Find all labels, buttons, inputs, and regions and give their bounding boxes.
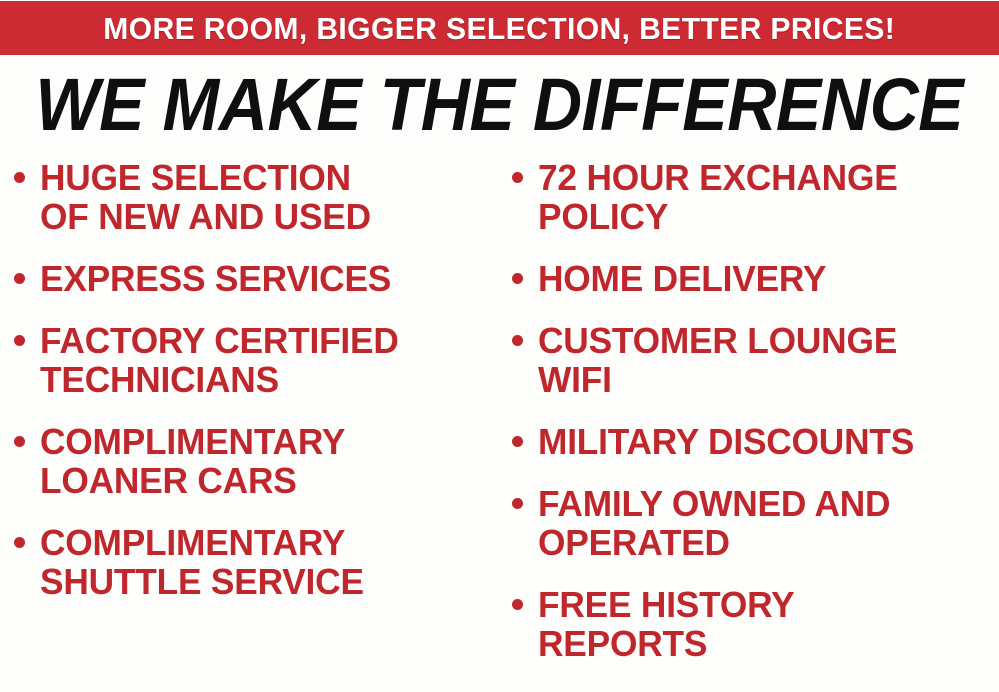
headline-container: WE MAKE THE DIFFERENCE: [0, 64, 999, 146]
promotional-banner: MORE ROOM, BIGGER SELECTION, BETTER PRIC…: [0, 0, 999, 692]
bullet-dot-icon: [512, 599, 523, 610]
list-item-label: COMPLIMENTARY LOANER CARS: [40, 422, 495, 500]
list-item-label: EXPRESS SERVICES: [40, 259, 495, 298]
bullet-dot-icon: [14, 436, 25, 447]
list-item-label: FAMILY OWNED AND OPERATED: [538, 484, 990, 562]
list-item: COMPLIMENTARY SHUTTLE SERVICE: [14, 523, 504, 601]
list-item-label: FREE HISTORY REPORTS: [538, 585, 990, 663]
page-title: WE MAKE THE DIFFERENCE: [36, 68, 964, 142]
list-item-label: COMPLIMENTARY SHUTTLE SERVICE: [40, 523, 495, 601]
bullet-dot-icon: [14, 172, 25, 183]
benefits-column-right: 72 HOUR EXCHANGE POLICY HOME DELIVERY CU…: [512, 158, 999, 686]
bullet-dot-icon: [512, 172, 523, 183]
list-item-label: 72 HOUR EXCHANGE POLICY: [538, 158, 990, 236]
list-item-label: HOME DELIVERY: [538, 259, 990, 298]
list-item-label: CUSTOMER LOUNGE WIFI: [538, 321, 990, 399]
list-item: 72 HOUR EXCHANGE POLICY: [512, 158, 999, 236]
bullet-dot-icon: [14, 335, 25, 346]
bullet-dot-icon: [14, 273, 25, 284]
ribbon-headline-text: MORE ROOM, BIGGER SELECTION, BETTER PRIC…: [104, 13, 896, 44]
bullet-dot-icon: [512, 273, 523, 284]
top-ribbon: MORE ROOM, BIGGER SELECTION, BETTER PRIC…: [0, 1, 999, 55]
list-item: HUGE SELECTION OF NEW AND USED: [14, 158, 504, 236]
bullet-dot-icon: [512, 335, 523, 346]
benefits-column-left: HUGE SELECTION OF NEW AND USED EXPRESS S…: [14, 158, 504, 624]
benefits-columns: HUGE SELECTION OF NEW AND USED EXPRESS S…: [0, 158, 999, 692]
list-item: FAMILY OWNED AND OPERATED: [512, 484, 999, 562]
bullet-dot-icon: [512, 436, 523, 447]
list-item-label: MILITARY DISCOUNTS: [538, 422, 990, 461]
list-item-label: FACTORY CERTIFIED TECHNICIANS: [40, 321, 495, 399]
list-item: FACTORY CERTIFIED TECHNICIANS: [14, 321, 504, 399]
list-item-label: HUGE SELECTION OF NEW AND USED: [40, 158, 495, 236]
bullet-dot-icon: [14, 537, 25, 548]
list-item: MILITARY DISCOUNTS: [512, 422, 999, 461]
list-item: CUSTOMER LOUNGE WIFI: [512, 321, 999, 399]
bullet-dot-icon: [512, 498, 523, 509]
list-item: EXPRESS SERVICES: [14, 259, 504, 298]
list-item: HOME DELIVERY: [512, 259, 999, 298]
list-item: FREE HISTORY REPORTS: [512, 585, 999, 663]
list-item: COMPLIMENTARY LOANER CARS: [14, 422, 504, 500]
